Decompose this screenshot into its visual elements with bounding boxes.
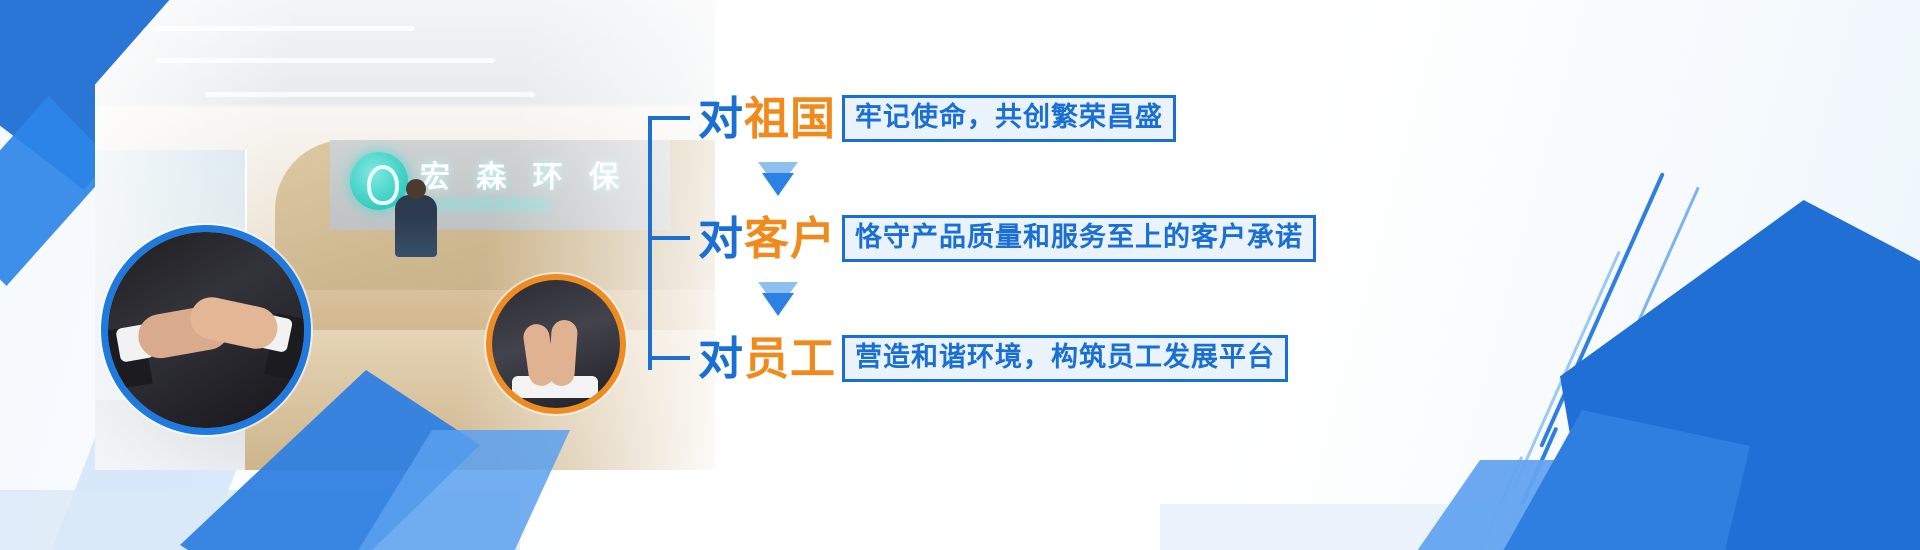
decor-line-right-1	[1539, 172, 1665, 448]
triangle-down-icon-top	[758, 282, 798, 294]
culture-heading-target: 客户	[744, 213, 836, 264]
clapping-hands-photo	[492, 280, 620, 408]
triangle-down-icon-top	[758, 162, 798, 174]
decor-band-bottom-left	[0, 490, 520, 550]
culture-heading-target: 祖国	[744, 93, 836, 144]
decor-band-bottom-right	[1160, 504, 1920, 550]
culture-heading-country: 对祖国	[698, 96, 836, 141]
triangle-down-icon-bottom	[762, 293, 794, 316]
culture-heading-prefix: 对	[698, 213, 744, 264]
company-culture-banner: 宏 森 环 保 HONGSEN 环保企业 对祖国 牢记使命，共创繁荣昌盛	[0, 0, 1920, 550]
decor-line-right-4	[1486, 427, 1559, 550]
culture-heading-employee: 对员工	[698, 336, 836, 381]
bracket-tick	[648, 116, 690, 120]
decor-polygon-right-mid	[1470, 410, 1750, 550]
triangle-down-icon	[758, 162, 798, 196]
decor-line-right-5	[1460, 456, 1524, 550]
decor-line-right-3	[1512, 251, 1620, 490]
handshake-photo	[108, 232, 304, 428]
culture-heading-customer: 对客户	[698, 216, 836, 261]
triangle-down-icon-bottom	[762, 173, 794, 196]
culture-slogan-employee: 营造和谐环境，构筑员工发展平台	[842, 335, 1288, 382]
culture-row-customer: 对客户 恪守产品质量和服务至上的客户承诺	[648, 210, 1316, 266]
photo-hand	[548, 319, 579, 387]
triangle-down-icon	[758, 282, 798, 316]
decor-line-right-2	[1583, 186, 1700, 443]
culture-statement-group: 对祖国 牢记使命，共创繁荣昌盛 对客户 恪守产品质量和服务至上的客户承诺 对员工…	[648, 78, 1448, 408]
culture-slogan-country: 牢记使命，共创繁荣昌盛	[842, 95, 1176, 142]
culture-row-employee: 对员工 营造和谐环境，构筑员工发展平台	[648, 330, 1288, 386]
decor-polygon-right-large	[1560, 200, 1920, 550]
bracket-tick	[648, 356, 690, 360]
culture-slogan-customer: 恪守产品质量和服务至上的客户承诺	[842, 215, 1316, 262]
culture-heading-prefix: 对	[698, 333, 744, 384]
bracket-tick	[648, 236, 690, 240]
culture-heading-prefix: 对	[698, 93, 744, 144]
culture-heading-target: 员工	[744, 333, 836, 384]
decor-polygon-right-small	[1390, 460, 1590, 550]
culture-row-country: 对祖国 牢记使命，共创繁荣昌盛	[648, 90, 1176, 146]
